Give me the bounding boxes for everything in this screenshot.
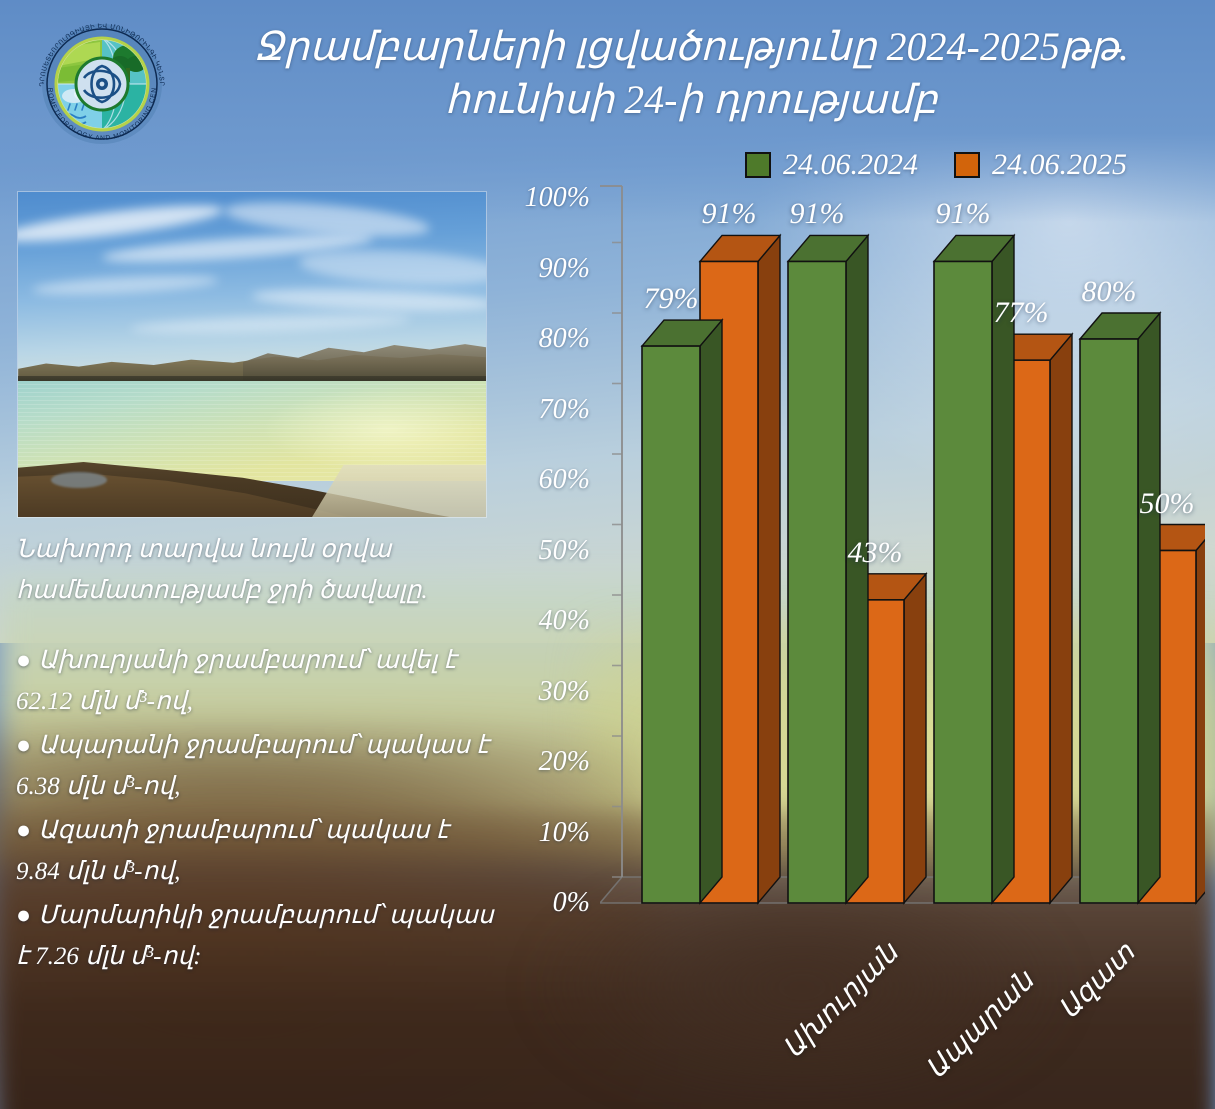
legend-swatch-2024 <box>745 152 771 178</box>
summary-bullet-list: ● Ախուրյանի ջրամբարում՝ ավել է 62.12 մլն… <box>16 641 496 977</box>
list-item: ● Ախուրյանի ջրամբարում՝ ավել է 62.12 մլն… <box>16 641 496 722</box>
y-axis-tick-label: 70% <box>500 394 590 426</box>
list-item-text: Ազատի ջրամբարում՝ պակաս է 9.84 մլն մ³-ով… <box>16 817 449 885</box>
y-axis-tick-label: 60% <box>500 464 590 496</box>
list-item-text: Ախուրյանի ջրամբարում՝ ավել է 62.12 մլն մ… <box>16 647 456 715</box>
y-axis-tick-label: 40% <box>500 605 590 637</box>
bar-2024[interactable] <box>934 235 1014 903</box>
page-title-line-2: հունիսի 24-ի դրությամբ <box>186 73 1196 126</box>
bar-2024[interactable] <box>1080 313 1160 903</box>
summary-intro: Նախորդ տարվա նույն օրվա համեմատությամբ ջ… <box>16 530 496 611</box>
list-item: ● Ազատի ջրամբարում՝ պակաս է 9.84 մլն մ³-… <box>16 811 496 892</box>
bar-value-label: 91% <box>936 197 991 231</box>
bar-value-label: 43% <box>848 536 903 570</box>
list-item-text: Մարմարիկի ջրամբարում՝ պակաս է 7.26 մլն մ… <box>16 902 494 970</box>
bar-value-label: 91% <box>702 197 757 231</box>
bullet-glyph: ● <box>16 896 32 937</box>
page-title-line-1: Ջրամբարների լցվածությունը 2024-2025թթ. <box>186 20 1196 73</box>
list-item-text: Ապարանի ջրամբարում՝ պակաս է 6.38 մլն մ³-… <box>16 732 489 800</box>
y-axis-labels: 100%90%80%70%60%50%40%30%20%10%0% <box>500 176 590 911</box>
bullet-glyph: ● <box>16 726 32 767</box>
list-item: ● Մարմարիկի ջրամբարում՝ պակաս է 7.26 մլն… <box>16 896 496 977</box>
y-axis-tick-label: 100% <box>500 182 590 214</box>
legend-swatch-2025 <box>954 152 980 178</box>
bar-value-label: 80% <box>1082 275 1137 309</box>
x-axis-category-label: Ախուրյան <box>776 936 906 1066</box>
chart-plot-area: 91%79%43%91%77%91%50%80% <box>600 176 1205 936</box>
y-axis-tick-label: 10% <box>500 817 590 849</box>
y-axis-tick-label: 90% <box>500 253 590 285</box>
summary-text-block: Նախորդ տարվա նույն օրվա համեմատությամբ ջ… <box>16 530 496 981</box>
bar-value-label: 79% <box>644 282 699 316</box>
y-axis-tick-label: 30% <box>500 676 590 708</box>
y-axis-tick-label: 50% <box>500 535 590 567</box>
reservoir-photo <box>18 192 486 517</box>
bar-value-label: 91% <box>790 197 845 231</box>
y-axis-tick-label: 20% <box>500 746 590 778</box>
bar-chart: 100%90%80%70%60%50%40%30%20%10%0% 91%79%… <box>500 176 1215 936</box>
bar-value-label: 50% <box>1140 487 1195 521</box>
x-axis-category-label: Ապարան <box>919 964 1041 1086</box>
y-axis-tick-label: 80% <box>500 323 590 355</box>
y-axis-tick-label: 0% <box>500 887 590 919</box>
page-title: Ջրամբարների լցվածությունը 2024-2025թթ. հ… <box>186 20 1196 126</box>
bullet-glyph: ● <box>16 811 32 852</box>
x-axis-labels: ԱխուրյանԱպարանԱզատՄարմարիկ <box>500 930 1215 1105</box>
photo-puddle <box>51 472 107 488</box>
bullet-glyph: ● <box>16 641 32 682</box>
photo-water-glint <box>261 387 486 472</box>
bar-value-label: 77% <box>994 296 1049 330</box>
list-item: ● Ապարանի ջրամբարում՝ պակաս է 6.38 մլն մ… <box>16 726 496 807</box>
bar-2024[interactable] <box>642 320 722 903</box>
organization-logo: «ՀԻԴՐՈՄԵՏԵՈՐՈԼՈԳԻԱՅԻ ԵՎ ՄՈՆԻԹՈՐԻՆԳԻ ԿԵՆՏ… <box>22 8 182 158</box>
logo-icon: «ՀԻԴՐՈՄԵՏԵՈՐՈԼՈԳԻԱՅԻ ԵՎ ՄՈՆԻԹՈՐԻՆԳԻ ԿԵՆՏ… <box>22 8 182 158</box>
x-axis-category-label: Ազատ <box>1051 936 1141 1026</box>
